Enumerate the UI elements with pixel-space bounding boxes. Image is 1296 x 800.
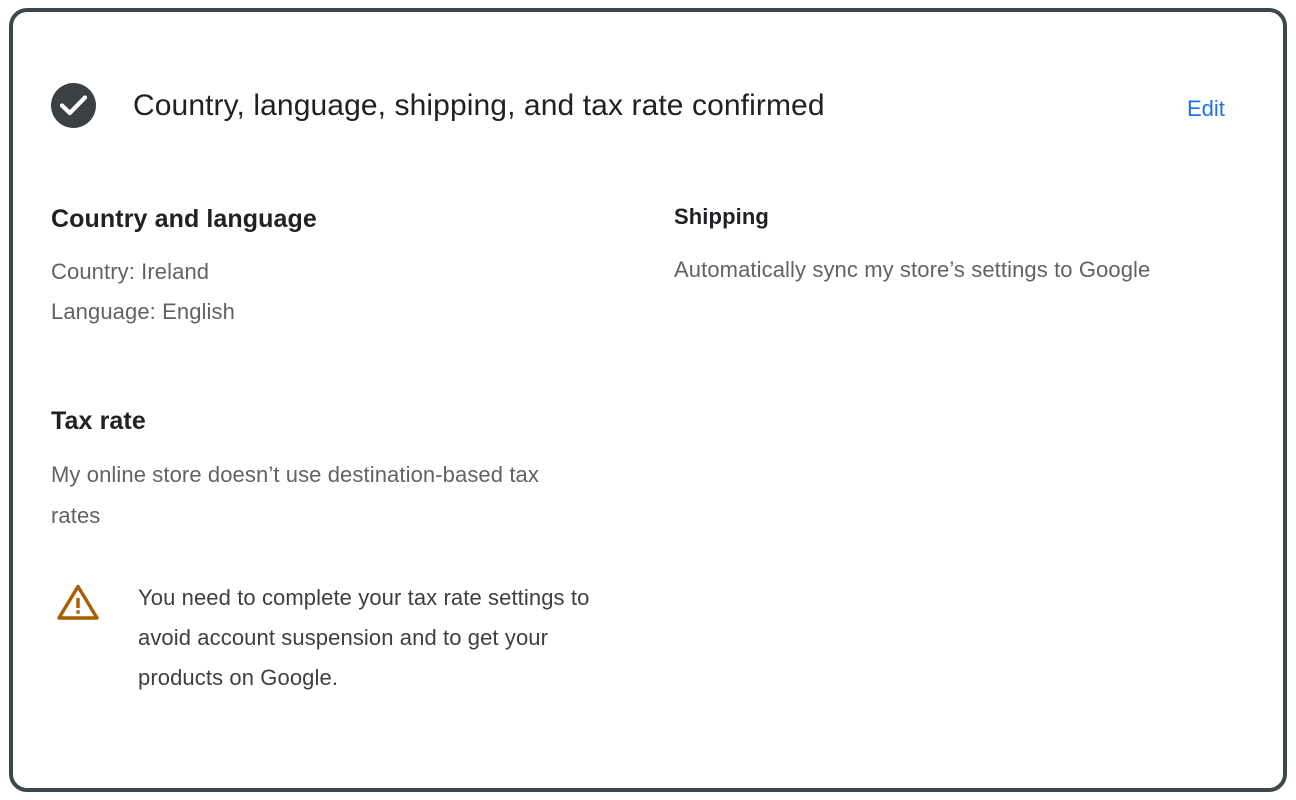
settings-summary-card: Country, language, shipping, and tax rat… — [9, 8, 1287, 792]
country-language-values: Country: Ireland Language: English — [51, 252, 641, 332]
right-column: Shipping Automatically sync my store’s s… — [674, 202, 1234, 290]
warning-triangle-icon — [56, 582, 100, 622]
edit-button[interactable]: Edit — [1181, 91, 1231, 127]
tax-rate-value: My online store doesn’t use destination-… — [51, 454, 581, 536]
warning-message: You need to complete your tax rate setti… — [138, 578, 638, 698]
screen-root: Country, language, shipping, and tax rat… — [0, 0, 1296, 800]
left-column: Country and language Country: Ireland La… — [51, 202, 641, 698]
tax-rate-section: Tax rate My online store doesn’t use des… — [51, 404, 641, 698]
check-circle-filled-icon — [51, 83, 96, 128]
country-language-section: Country and language Country: Ireland La… — [51, 202, 641, 332]
shipping-section: Shipping Automatically sync my store’s s… — [674, 202, 1234, 290]
card-header: Country, language, shipping, and tax rat… — [13, 12, 1283, 144]
language-value: Language: English — [51, 299, 235, 324]
tax-rate-warning: You need to complete your tax rate setti… — [51, 578, 641, 698]
country-value: Country: Ireland — [51, 259, 209, 284]
shipping-value: Automatically sync my store’s settings t… — [674, 250, 1214, 290]
tax-rate-heading: Tax rate — [51, 404, 641, 438]
page-title: Country, language, shipping, and tax rat… — [133, 86, 825, 126]
country-language-heading: Country and language — [51, 202, 641, 236]
shipping-heading: Shipping — [674, 202, 1234, 232]
